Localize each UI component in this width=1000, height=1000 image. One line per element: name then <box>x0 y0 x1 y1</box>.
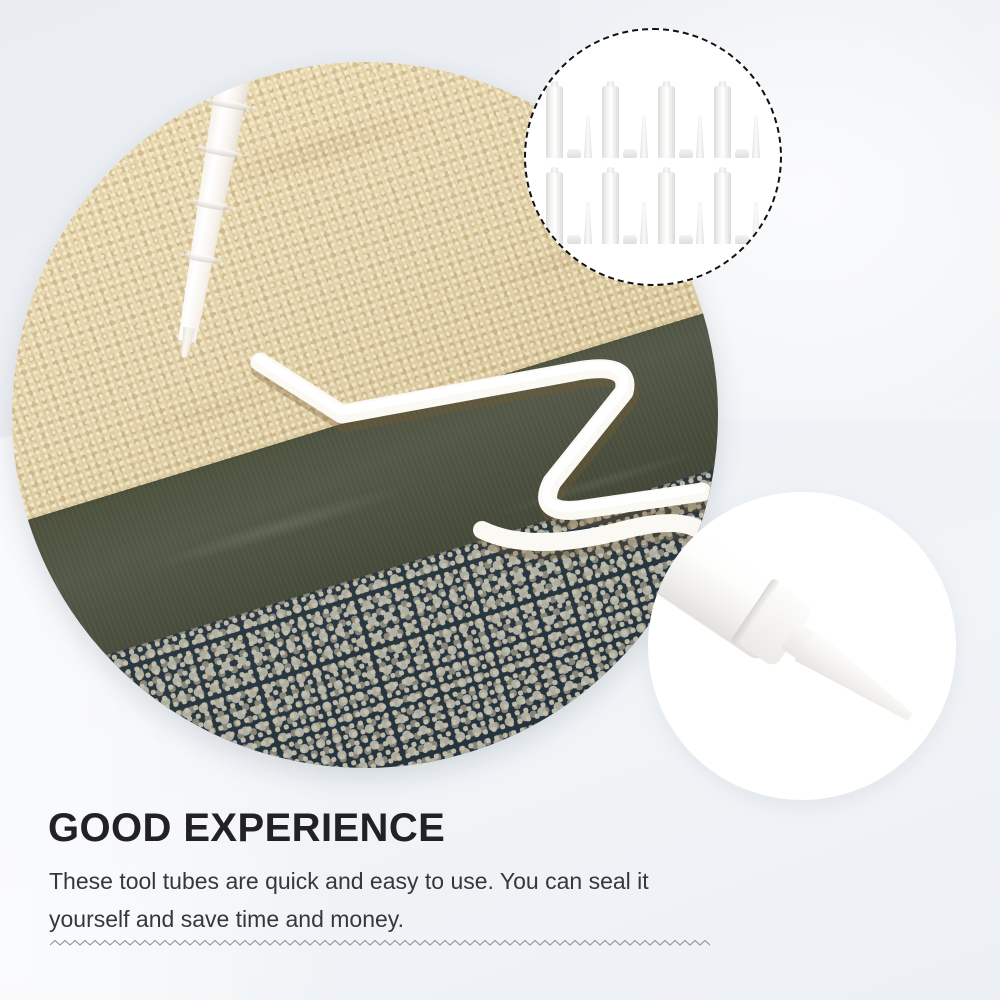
tube-cap <box>623 149 637 158</box>
tube-body <box>602 172 619 244</box>
tube-nozzle <box>752 202 760 244</box>
tube-grid <box>544 74 768 246</box>
tube-cap <box>679 149 693 158</box>
tube-cap <box>735 149 749 158</box>
caulk-tube <box>648 492 855 702</box>
tube-cap <box>735 235 749 244</box>
tube-nub <box>719 167 726 173</box>
tube-nozzle <box>640 202 648 244</box>
tube-nozzle <box>584 202 592 244</box>
tube-cap <box>623 235 637 244</box>
tube-unit <box>600 160 656 246</box>
tube-body <box>714 86 731 158</box>
tube-nozzle <box>640 116 648 158</box>
tube-cap <box>567 149 581 158</box>
tube-body <box>546 172 563 244</box>
tube-nozzle <box>696 202 704 244</box>
tube-unit <box>600 74 656 160</box>
tube-nub <box>551 167 558 173</box>
product-tubes-inset <box>524 28 782 286</box>
tube-unit <box>712 160 768 246</box>
tube-nozzle <box>752 116 760 158</box>
tube-unit <box>712 74 768 160</box>
tube-body <box>546 86 563 158</box>
tube-nub <box>663 81 670 87</box>
tube-cap <box>567 235 581 244</box>
tube-body <box>658 172 675 244</box>
tube-unit <box>544 160 600 246</box>
tube-nub <box>663 167 670 173</box>
single-tube-inset <box>648 492 956 800</box>
tube-unit <box>656 74 712 160</box>
tube-nub <box>719 81 726 87</box>
tube-nub <box>607 81 614 87</box>
page-title: GOOD EXPERIENCE <box>48 806 445 851</box>
tube-nub <box>607 167 614 173</box>
tube-nub <box>551 81 558 87</box>
tube-unit <box>544 74 600 160</box>
tube-nozzle <box>792 627 923 735</box>
tube-unit <box>656 160 712 246</box>
tube-body <box>658 86 675 158</box>
tube-body <box>602 86 619 158</box>
tube-cap <box>679 235 693 244</box>
zigzag-divider <box>50 936 710 950</box>
body-text: These tool tubes are quick and easy to u… <box>49 862 669 938</box>
tube-nozzle <box>696 116 704 158</box>
tube-body <box>714 172 731 244</box>
product-banner: GOOD EXPERIENCE These tool tubes are qui… <box>0 0 1000 1000</box>
tube-nozzle <box>584 116 592 158</box>
